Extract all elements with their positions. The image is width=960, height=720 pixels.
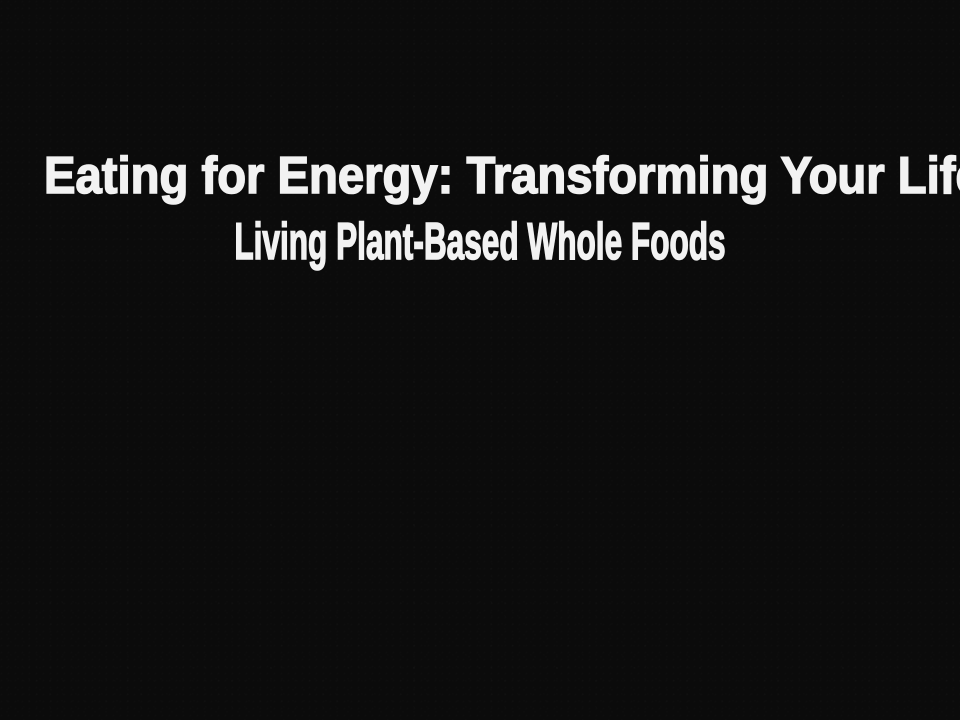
book-cover-canvas: Eating for Energy: Transforming Your Lif…	[0, 0, 960, 720]
cover-title-block: Eating for Energy: Transforming Your Lif…	[0, 150, 960, 268]
cover-title-line-2: Living Plant-Based Whole Foods	[188, 216, 771, 268]
cover-title-line-1: Eating for Energy: Transforming Your Lif…	[44, 150, 916, 202]
